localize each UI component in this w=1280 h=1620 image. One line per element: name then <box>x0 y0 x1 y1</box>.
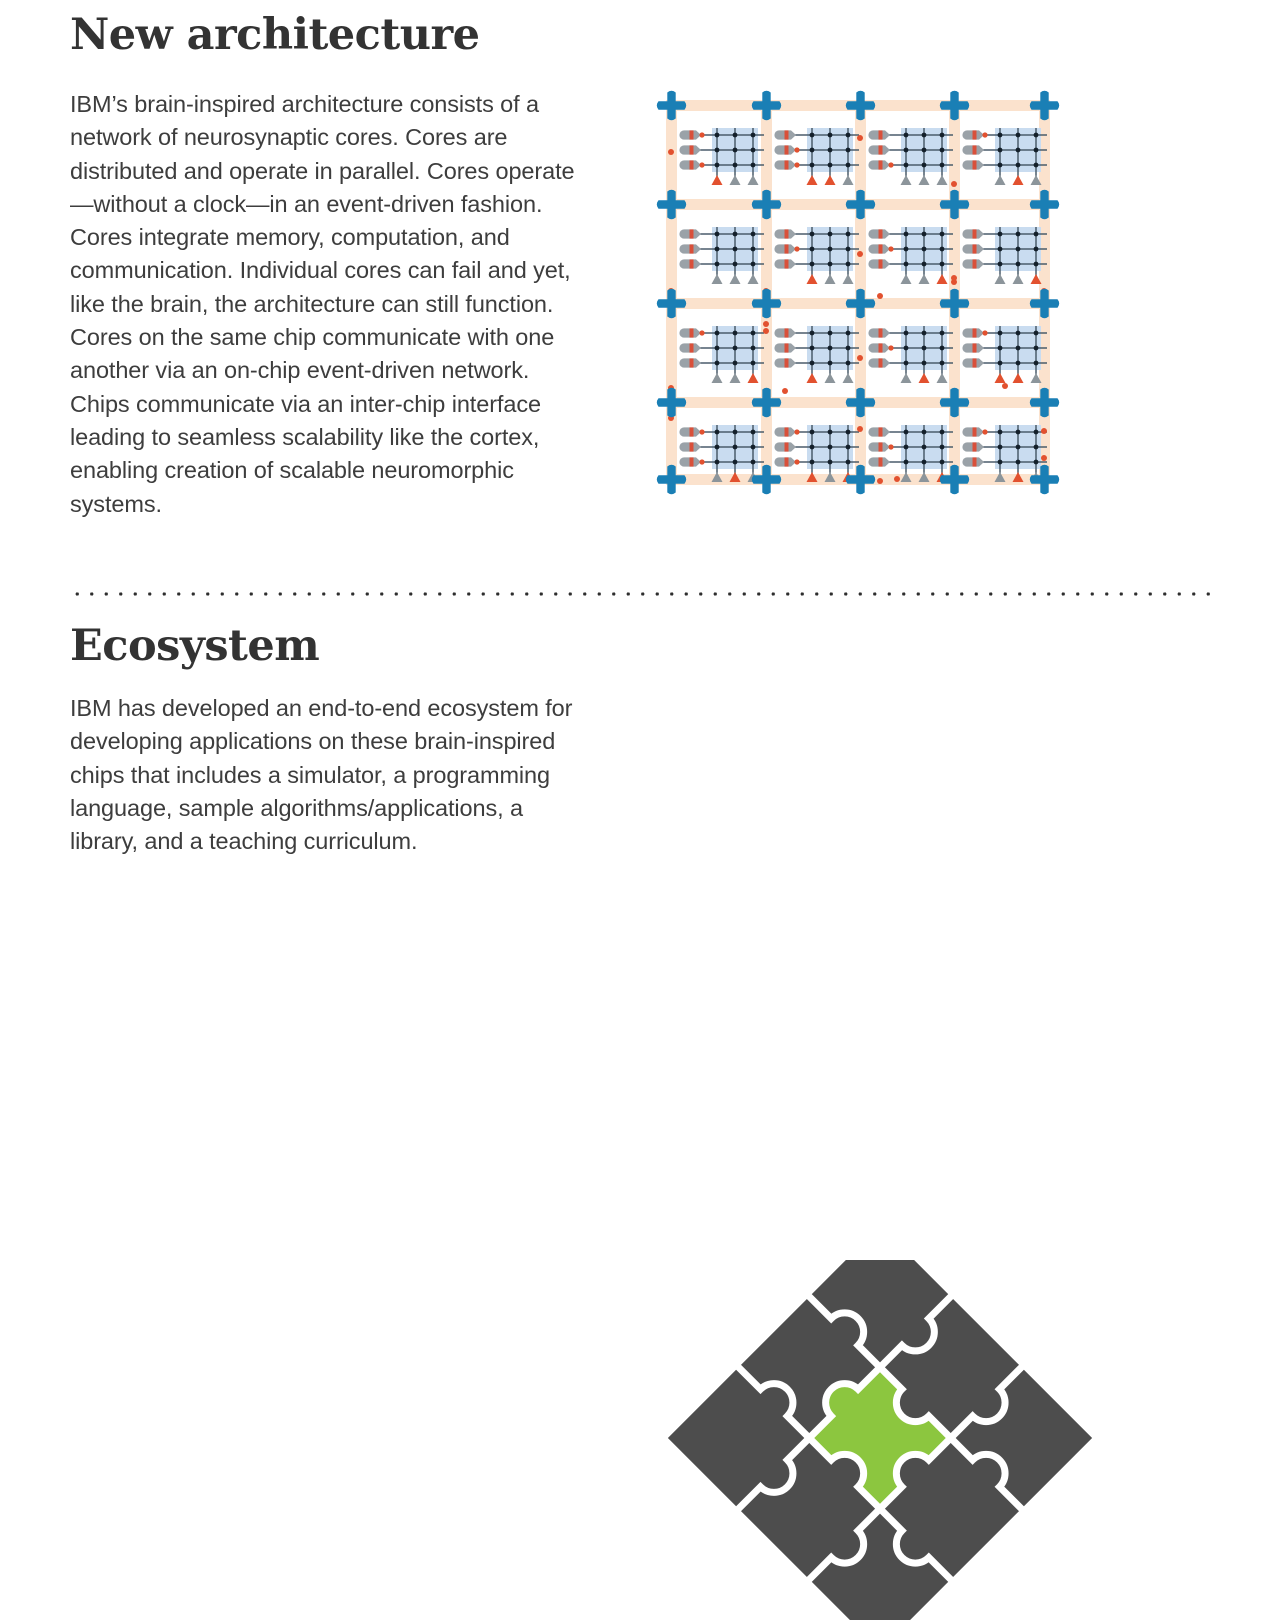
neurosynaptic-core <box>962 227 1047 284</box>
router <box>752 91 781 120</box>
neurosynaptic-core-mesh-diagram <box>648 86 1068 498</box>
router <box>752 388 781 417</box>
neurosynaptic-core <box>868 128 953 185</box>
router <box>752 190 781 219</box>
puzzle-board <box>668 1260 1092 1620</box>
router <box>940 91 969 120</box>
neurosynaptic-core <box>679 425 764 482</box>
router <box>940 465 969 494</box>
neurosynaptic-core <box>962 425 1047 482</box>
page-title-new-architecture: New architecture <box>70 14 480 57</box>
jigsaw-puzzle-diagram <box>660 1260 1100 1620</box>
router <box>846 388 875 417</box>
router <box>1030 388 1059 417</box>
neurosynaptic-core <box>774 425 859 482</box>
router <box>1030 91 1059 120</box>
router <box>1030 289 1059 318</box>
neurosynaptic-core <box>679 326 764 383</box>
neurosynaptic-core <box>679 227 764 284</box>
router <box>846 465 875 494</box>
core-mesh-svg <box>648 86 1068 498</box>
neurosynaptic-core <box>774 227 859 284</box>
neurosynaptic-core <box>774 326 859 383</box>
router <box>752 289 781 318</box>
neurosynaptic-core <box>868 425 953 482</box>
router <box>940 190 969 219</box>
neurosynaptic-core <box>868 326 953 383</box>
ecosystem-text-column: IBM has developed an end-to-end ecosyste… <box>70 692 585 858</box>
dotted-divider <box>70 592 1216 596</box>
architecture-body-text: IBM’s brain-inspired architecture consis… <box>70 88 585 521</box>
router <box>657 465 686 494</box>
neurosynaptic-core <box>774 128 859 185</box>
router <box>846 91 875 120</box>
neurosynaptic-core <box>868 227 953 284</box>
router <box>657 190 686 219</box>
router <box>1030 465 1059 494</box>
architecture-text-column: IBM’s brain-inspired architecture consis… <box>70 88 585 521</box>
section-new-architecture: New architecture IBM’s brain-inspired ar… <box>0 0 1280 588</box>
router <box>1030 190 1059 219</box>
router <box>657 289 686 318</box>
router <box>940 289 969 318</box>
neurosynaptic-core <box>962 326 1047 383</box>
router <box>846 190 875 219</box>
neurosynaptic-core <box>679 128 764 185</box>
neurosynaptic-core <box>962 128 1047 185</box>
router <box>657 91 686 120</box>
router <box>846 289 875 318</box>
puzzle-svg <box>660 1260 1100 1620</box>
router <box>752 465 781 494</box>
ecosystem-body-text: IBM has developed an end-to-end ecosyste… <box>70 692 585 858</box>
section-ecosystem: Ecosystem IBM has developed an end-to-en… <box>0 600 1280 1032</box>
router <box>657 388 686 417</box>
page-title-ecosystem: Ecosystem <box>70 625 319 668</box>
router <box>940 388 969 417</box>
